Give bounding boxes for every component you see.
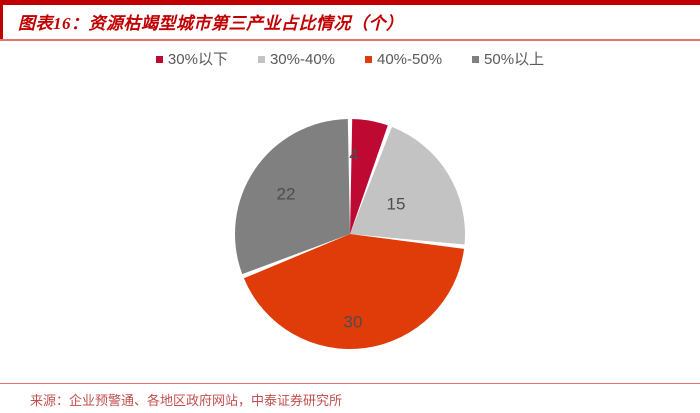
legend-swatch-icon: [156, 56, 163, 63]
pie-slice-label: 4: [349, 145, 358, 164]
legend-item-label: 40%-50%: [377, 52, 442, 67]
chart-plot-area: 4153022: [0, 86, 700, 374]
legend-swatch-icon: [472, 56, 479, 63]
footer-rule: [0, 383, 700, 384]
pie-slice-label: 22: [277, 184, 296, 203]
legend-item-2[interactable]: 40%-50%: [365, 52, 442, 67]
pie-slice-label: 30: [344, 312, 363, 331]
page-title: 图表16：资源枯竭型城市第三产业占比情况（个）: [18, 9, 404, 34]
legend-item-label: 50%以上: [484, 52, 544, 67]
legend-swatch-icon: [258, 56, 265, 63]
title-top-rule: [0, 0, 700, 5]
legend-item-label: 30%-40%: [270, 52, 335, 67]
source-note: 来源：企业预警通、各地区政府网站，中泰证券研究所: [30, 390, 342, 409]
legend-item-label: 30%以下: [168, 52, 228, 67]
pie-slice-label: 15: [387, 194, 406, 213]
chart-legend: 30%以下 30%-40% 40%-50% 50%以上: [0, 52, 700, 67]
title-left-accent: [0, 5, 3, 39]
pie-chart: 4153022: [233, 118, 467, 350]
legend-item-3[interactable]: 50%以上: [472, 52, 544, 67]
legend-item-1[interactable]: 30%-40%: [258, 52, 335, 67]
legend-item-0[interactable]: 30%以下: [156, 52, 228, 67]
title-bottom-rule: [0, 39, 700, 41]
chart-title-bar: 图表16：资源枯竭型城市第三产业占比情况（个）: [0, 0, 700, 42]
legend-swatch-icon: [365, 56, 372, 63]
